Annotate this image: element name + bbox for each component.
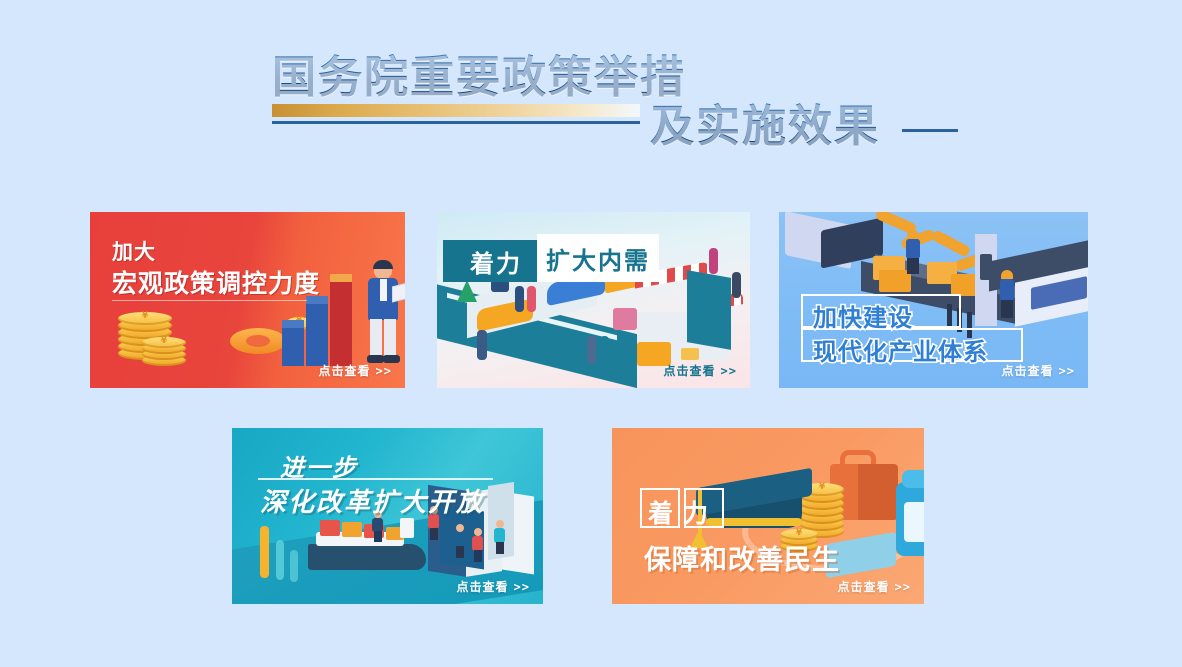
title-dash-accent (902, 129, 958, 132)
card-headline-line2: 宏观政策调控力度 (112, 264, 320, 300)
cta-arrow-icon: >> (895, 580, 911, 594)
policy-card-livelihood[interactable]: 着力 保障和改善民生 点击查看>> (612, 428, 924, 604)
cta-arrow-icon: >> (1059, 364, 1075, 378)
card-headline-line2: 扩大内需 (537, 234, 659, 282)
cta-arrow-icon: >> (721, 364, 737, 378)
bar-chart-bar-2 (306, 304, 328, 366)
worker-2 (999, 270, 1015, 318)
briefcase-side (858, 464, 898, 520)
policy-card-reform-opening[interactable]: 进一步 深化改革扩大开放 点击查看>> (232, 428, 543, 604)
container-red-1 (320, 520, 340, 536)
card-cta-link[interactable]: 点击查看>> (1002, 362, 1075, 379)
shop-sidewall (687, 270, 731, 350)
visitor-4 (472, 528, 483, 562)
card-cta-link[interactable]: 点击查看>> (838, 578, 911, 595)
card-headline-line2: 深化改革扩大开放 (260, 482, 484, 519)
cta-label: 点击查看 (457, 580, 509, 594)
card-cta-link[interactable]: 点击查看>> (457, 578, 530, 595)
cta-label: 点击查看 (319, 364, 371, 378)
bar-chart-bar-1 (282, 328, 304, 366)
page-title-line1: 国务院重要政策举措 (272, 52, 686, 104)
visitor-5 (494, 520, 505, 554)
parcel-small (681, 348, 699, 360)
gold-accent-bar (272, 104, 640, 117)
tree-icon-1 (457, 280, 477, 302)
card-headline-line1: 加大 (112, 236, 156, 266)
pedestrian-2 (527, 286, 536, 312)
title-block: 国务院重要政策举措 及实施效果 (272, 52, 972, 162)
medicine-bottle-cap (902, 470, 924, 488)
cta-label: 点击查看 (664, 364, 716, 378)
title-underline-long (272, 121, 640, 124)
cta-arrow-icon: >> (376, 364, 392, 378)
headline-divider (258, 478, 493, 480)
bar-chart-bar-3 (330, 282, 352, 366)
parcel-pink (613, 308, 637, 330)
pedestrian-7 (732, 272, 741, 298)
card-headline-line1: 着力 (443, 240, 549, 282)
card-headline-line2: 现代化产业体系 (813, 332, 988, 367)
businessman-figure (362, 262, 404, 370)
robot-arm-3 (931, 229, 971, 257)
card-headline-line1: 着力 (648, 494, 718, 530)
pedestrian-4 (587, 336, 596, 364)
pedestrian-1 (515, 286, 524, 312)
chart-bar-cyan-2 (290, 550, 298, 582)
policy-card-macro-policy[interactable]: 加大 宏观政策调控力度 点击查看>> (90, 212, 405, 388)
headline-tag-white: 扩大内需 (537, 234, 659, 282)
card-cta-link[interactable]: 点击查看>> (664, 362, 737, 379)
cta-label: 点击查看 (1002, 364, 1054, 378)
policy-card-domestic-demand[interactable]: 着力 扩大内需 点击查看>> (437, 212, 750, 388)
visitor-3 (454, 524, 465, 558)
title-line2-wrap: 及实施效果 (650, 99, 958, 155)
cargo-ship-hull (308, 544, 426, 570)
card-cta-link[interactable]: 点击查看>> (319, 362, 392, 379)
headline-tag-teal: 着力 (443, 240, 549, 282)
page-header: 国务院重要政策举措 及实施效果 (0, 0, 1182, 180)
worker-1 (905, 230, 921, 274)
pedestrian-6 (709, 248, 718, 274)
policy-card-industrial-system[interactable]: 加快建设 现代化产业体系 点击查看>> (779, 212, 1088, 388)
ring-icon (230, 328, 286, 354)
ship-bridge (400, 518, 414, 538)
card-headline-line1: 加快建设 (813, 298, 913, 333)
cta-arrow-icon: >> (514, 580, 530, 594)
container-orange-1 (342, 522, 362, 537)
chart-bar-cyan-1 (276, 540, 284, 580)
pedestrian-5 (600, 336, 609, 364)
title-line1-wrap: 国务院重要政策举措 (272, 52, 686, 104)
cta-label: 点击查看 (838, 580, 890, 594)
card-headline-line2: 保障和改善民生 (644, 538, 840, 577)
coin-stack-small-icon (142, 336, 186, 366)
headline-divider (112, 300, 307, 301)
medicine-bottle-label (904, 502, 924, 542)
page-title-line2: 及实施效果 (650, 99, 880, 155)
pedestrian-3 (477, 330, 487, 360)
chart-bar-gold (260, 526, 269, 578)
